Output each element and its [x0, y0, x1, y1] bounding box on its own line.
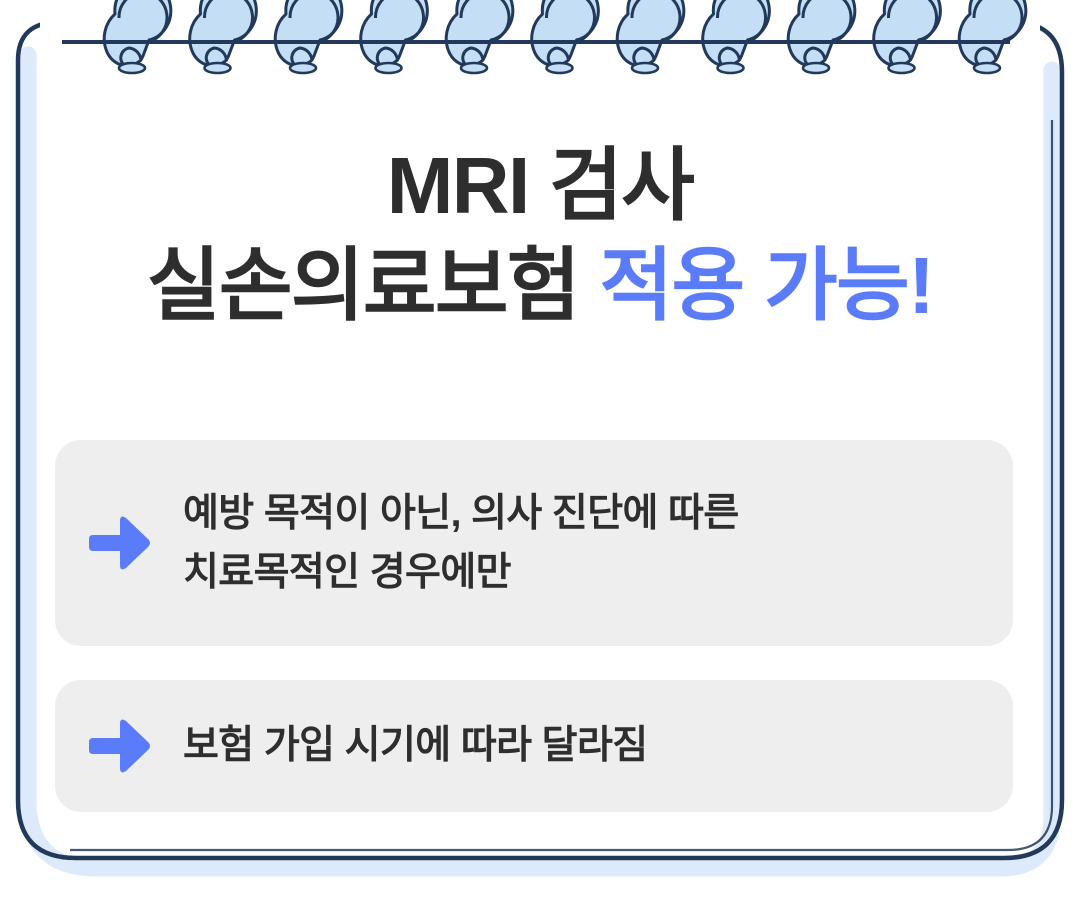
spiral-ring-coil	[788, 0, 855, 66]
spiral-ring	[190, 0, 257, 73]
spiral-ring	[275, 0, 342, 73]
bullet-box-1: 예방 목적이 아닌, 의사 진단에 따른 치료목적인 경우에만	[55, 440, 1013, 646]
spiral-ring-curl	[888, 0, 936, 42]
spiral-ring-curl	[717, 0, 765, 42]
spiral-ring-coil	[532, 0, 599, 66]
title-line-1: MRI 검사	[0, 146, 1080, 226]
spiral-ring-curl	[974, 0, 1022, 42]
spiral-ring-coil	[275, 0, 342, 66]
spiral-ring-tip	[376, 63, 402, 73]
spiral-ring-curl	[119, 0, 167, 42]
spiral-ring-curl	[461, 0, 509, 42]
spiral-ring-coil	[104, 0, 171, 66]
spiral-ring	[532, 0, 599, 73]
spiral-ring-curl	[204, 0, 252, 42]
spiral-ring-coil	[361, 0, 428, 66]
bullet-text-2: 보험 가입 시기에 따라 달라짐	[183, 716, 648, 775]
spiral-ring-coil	[190, 0, 257, 66]
spiral-ring-tip	[803, 63, 829, 73]
spiral-ring-tip	[632, 63, 658, 73]
spiral-ring-coil	[874, 0, 941, 66]
binding-mask	[40, 0, 1040, 46]
spiral-ring-tip	[718, 63, 744, 73]
spiral-ring	[617, 0, 684, 73]
spiral-ring-tip	[119, 63, 145, 73]
spiral-ring-curl	[546, 0, 594, 42]
arrow-right-icon	[89, 717, 151, 775]
spiral-ring	[959, 0, 1026, 73]
spiral-ring-tip	[290, 63, 316, 73]
spiral-ring-coil	[959, 0, 1026, 66]
spiral-ring	[104, 0, 171, 73]
spiral-ring-curl	[803, 0, 851, 42]
title-line-2-accent: 적용 가능!	[599, 241, 933, 330]
spiral-ring	[361, 0, 428, 73]
spiral-binding	[62, 0, 1026, 73]
spiral-ring-coil	[446, 0, 513, 66]
spiral-ring-curl	[290, 0, 338, 42]
spiral-ring-tip	[974, 63, 1000, 73]
arrow-right-icon	[89, 514, 151, 572]
page-title: MRI 검사 실손의료보험 적용 가능!	[0, 146, 1080, 326]
spiral-ring	[874, 0, 941, 73]
spiral-ring-tip	[547, 63, 573, 73]
bullet-box-2: 보험 가입 시기에 따라 달라짐	[55, 680, 1013, 812]
spiral-ring-tip	[205, 63, 231, 73]
spiral-ring	[703, 0, 770, 73]
spiral-ring-tip	[889, 63, 915, 73]
spiral-ring-tip	[461, 63, 487, 73]
title-line-2: 실손의료보험 적용 가능!	[0, 246, 1080, 326]
spiral-ring	[446, 0, 513, 73]
spiral-ring-coil	[703, 0, 770, 66]
spiral-ring	[788, 0, 855, 73]
bullet-text-1: 예방 목적이 아닌, 의사 진단에 따른 치료목적인 경우에만	[183, 484, 739, 603]
title-line-2-main: 실손의료보험	[147, 241, 600, 330]
spiral-ring-coil	[617, 0, 684, 66]
mri-insurance-info-card: MRI 검사 실손의료보험 적용 가능! 예방 목적이 아닌, 의사 진단에 따…	[0, 0, 1080, 897]
spiral-ring-curl	[632, 0, 680, 42]
spiral-ring-curl	[375, 0, 423, 42]
